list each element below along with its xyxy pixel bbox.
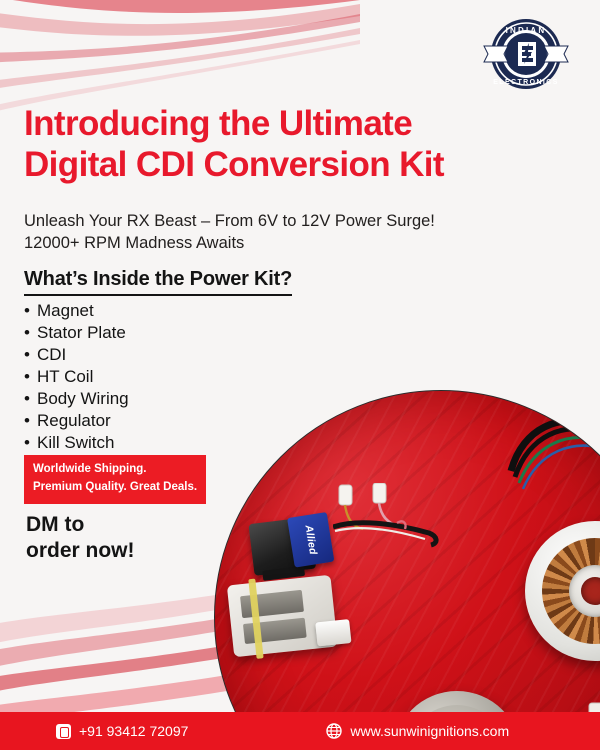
dm-cta-line-2: order now! bbox=[26, 538, 135, 564]
list-item: •Magnet bbox=[24, 300, 129, 322]
headline-line-1: Introducing the Ultimate bbox=[24, 104, 412, 143]
footer-phone[interactable]: +91 93412 72097 bbox=[56, 723, 188, 739]
list-item: •Stator Plate bbox=[24, 322, 129, 344]
list-item: •Body Wiring bbox=[24, 388, 129, 410]
bullet-icon: • bbox=[24, 344, 37, 366]
list-item: •Regulator bbox=[24, 410, 129, 432]
headline: Introducing the Ultimate Digital CDI Con… bbox=[24, 104, 524, 186]
list-item-label: CDI bbox=[37, 345, 66, 364]
cdi-unit-image: Allied bbox=[247, 506, 338, 580]
phone-icon bbox=[56, 724, 71, 739]
footer-website-text: www.sunwinignitions.com bbox=[350, 723, 509, 739]
footer-website[interactable]: www.sunwinignitions.com bbox=[326, 723, 509, 739]
bullet-icon: • bbox=[24, 410, 37, 432]
bullet-icon: • bbox=[24, 322, 37, 344]
subheadline: Unleash Your RX Beast – From 6V to 12V P… bbox=[24, 210, 494, 255]
bullet-icon: • bbox=[24, 388, 37, 410]
cdi-brand-text: Allied bbox=[302, 524, 319, 555]
bullet-icon: • bbox=[24, 366, 37, 388]
footer-bar: +91 93412 72097 www.sunwinignitions.com bbox=[0, 712, 600, 750]
regulator-connector bbox=[315, 619, 351, 646]
stator-plate-image bbox=[525, 521, 600, 661]
kit-list: •Magnet •Stator Plate •CDI •HT Coil •Bod… bbox=[24, 300, 129, 454]
logo-top-text: INDIAN bbox=[506, 26, 547, 35]
connector-wire-image bbox=[333, 483, 443, 553]
brand-logo: INDIAN ELECTRONICS bbox=[474, 16, 578, 92]
list-item-label: Kill Switch bbox=[37, 433, 114, 452]
footer-phone-text: +91 93412 72097 bbox=[79, 723, 188, 739]
logo-badge-icon: INDIAN ELECTRONICS bbox=[484, 19, 568, 89]
list-item: •CDI bbox=[24, 344, 129, 366]
bullet-icon: • bbox=[24, 300, 37, 322]
product-photo: Allied bbox=[214, 390, 600, 750]
bullet-icon: • bbox=[24, 432, 37, 454]
globe-icon bbox=[326, 723, 342, 739]
list-item-label: Magnet bbox=[37, 301, 94, 320]
list-item-label: Regulator bbox=[37, 411, 111, 430]
dm-cta: DM to order now! bbox=[26, 512, 135, 563]
body-wiring-harness-image bbox=[505, 407, 600, 527]
list-item: •HT Coil bbox=[24, 366, 129, 388]
list-item-label: Stator Plate bbox=[37, 323, 126, 342]
list-item: •Kill Switch bbox=[24, 432, 129, 454]
headline-line-2: Digital CDI Conversion Kit bbox=[24, 145, 524, 186]
kit-heading: What’s Inside the Power Kit? bbox=[24, 268, 292, 296]
cdi-brand-label: Allied bbox=[287, 512, 334, 568]
dm-cta-line-1: DM to bbox=[26, 512, 135, 538]
logo-bottom-text: ELECTRONICS bbox=[493, 79, 559, 86]
promo-line-1: Worldwide Shipping. bbox=[33, 461, 197, 479]
promo-poster: INDIAN ELECTRONICS Introducing the Ultim… bbox=[0, 0, 600, 750]
promo-line-2: Premium Quality. Great Deals. bbox=[33, 479, 197, 497]
regulator-image bbox=[227, 573, 357, 671]
list-item-label: HT Coil bbox=[37, 367, 93, 386]
list-item-label: Body Wiring bbox=[37, 389, 129, 408]
promo-badge: Worldwide Shipping. Premium Quality. Gre… bbox=[24, 455, 206, 504]
